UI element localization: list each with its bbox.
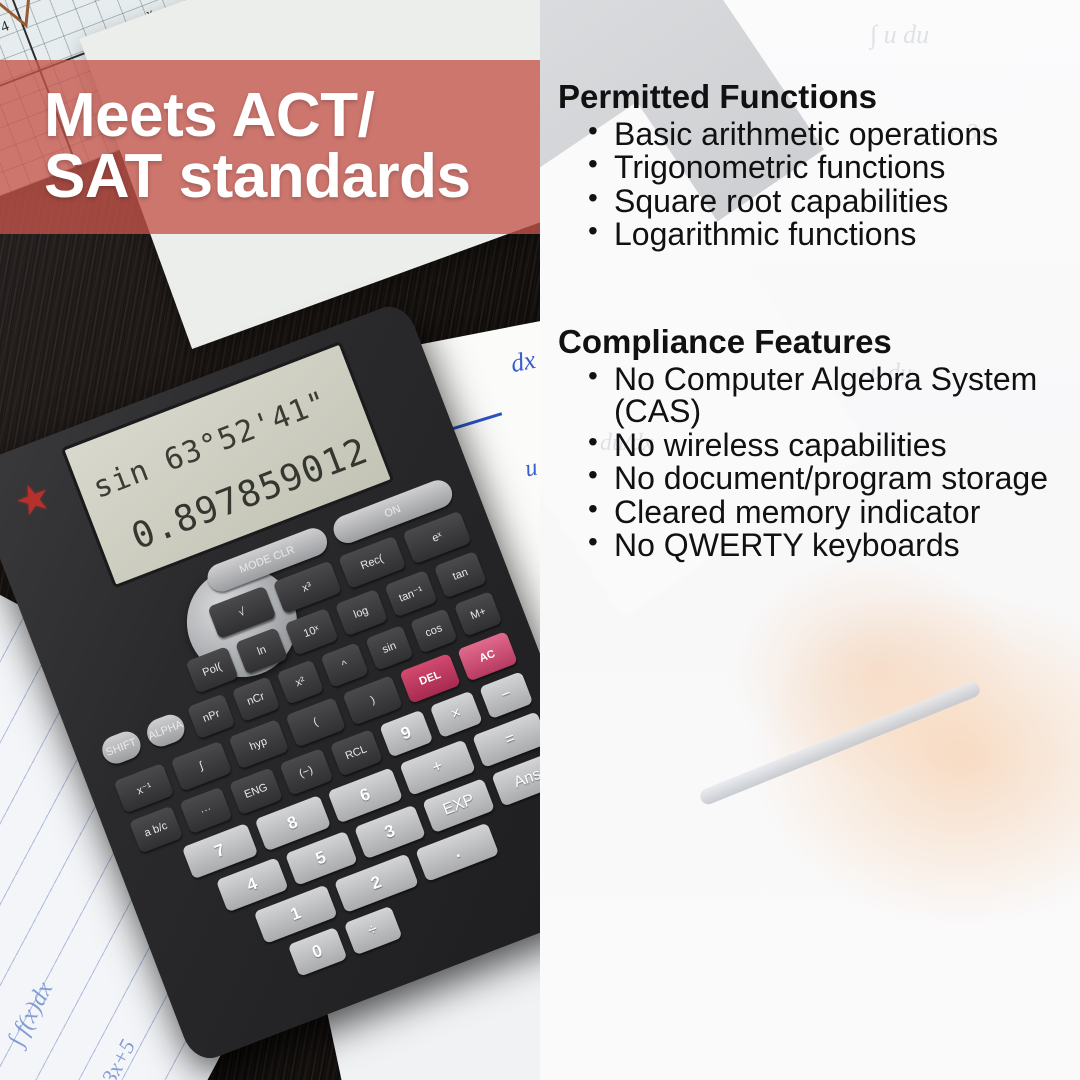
hyp-key[interactable]: hyp (228, 719, 289, 769)
tan-inv-key[interactable]: tan⁻¹ (384, 570, 437, 618)
pol-key[interactable]: Pol( (185, 646, 238, 694)
list-item: Trigonometric functions (614, 151, 1064, 183)
sin-key[interactable]: sin (365, 625, 413, 671)
headline-text: Meets ACT/ SAT standards (0, 86, 470, 208)
star-logo-icon: ★ (5, 473, 62, 530)
log-key[interactable]: log (334, 589, 387, 637)
eng-key[interactable]: ENG (229, 767, 283, 815)
shift-key[interactable]: SHIFT (98, 728, 144, 768)
list-item: Basic arithmetic operations (614, 118, 1064, 150)
permitted-functions-list: Basic arithmetic operations Trigonometri… (558, 118, 1064, 251)
list-item: Cleared memory indicator (614, 496, 1064, 528)
fraction-key[interactable]: a b/c (129, 806, 183, 854)
cos-key[interactable]: cos (410, 608, 458, 654)
dms-key[interactable]: ··· (179, 787, 233, 835)
list-item: No Computer Algebra System (CAS) (614, 363, 1064, 428)
ln-key[interactable]: ln (235, 627, 288, 675)
npr-key[interactable]: nPr (187, 693, 235, 739)
ncr-key[interactable]: nCr (232, 676, 280, 722)
list-item: Square root capabilities (614, 185, 1064, 217)
ten-power-key[interactable]: 10ˣ (285, 608, 338, 656)
minus-key[interactable]: − (479, 671, 533, 719)
calculator-photo-panel: 8 6 4 -4 x Piecewise functions Less. 1-3… (0, 0, 540, 1080)
list-item: No QWERTY keyboards (614, 529, 1064, 561)
section-permitted-functions: Permitted Functions Basic arithmetic ope… (558, 78, 1064, 251)
section-compliance-features: Compliance Features No Computer Algebra … (558, 323, 1064, 562)
left-paren-key[interactable]: ( (285, 697, 346, 747)
x-inverse-key[interactable]: x⁻¹ (114, 763, 175, 813)
rcl-key[interactable]: RCL (329, 729, 383, 777)
right-paren-key[interactable]: ) (342, 675, 403, 725)
infographic-page: 8 6 4 -4 x Piecewise functions Less. 1-3… (0, 0, 1080, 1080)
list-item: Logarithmic functions (614, 218, 1064, 250)
handwriting-substitution-u: u = x - (523, 444, 540, 483)
digit-9-key[interactable]: 9 (379, 710, 433, 758)
delete-key[interactable]: DEL (400, 653, 461, 703)
list-item: No document/program storage (614, 462, 1064, 494)
tan-key[interactable]: tan (434, 551, 487, 599)
x-squared-key[interactable]: x² (276, 659, 324, 705)
negative-key[interactable]: (−) (279, 748, 333, 796)
panel-content: Permitted Functions Basic arithmetic ope… (540, 0, 1080, 562)
digit-0-key[interactable]: 0 (288, 927, 347, 977)
all-clear-key[interactable]: AC (457, 631, 518, 681)
integral-key[interactable]: ∫ (171, 741, 232, 791)
features-text-panel: ∫ u du x² + 3x du/dx u du Permitted Func… (540, 0, 1080, 1080)
memory-plus-key[interactable]: M+ (454, 591, 502, 637)
multiply-key[interactable]: × (429, 690, 483, 738)
section-title-compliance: Compliance Features (558, 323, 1064, 361)
section-title-permitted: Permitted Functions (558, 78, 1064, 116)
handwriting-dx: dx (508, 345, 538, 379)
section-spacer (558, 261, 1064, 323)
divide-key[interactable]: ÷ (343, 906, 402, 956)
power-key[interactable]: ^ (321, 642, 369, 688)
alpha-key[interactable]: ALPHA (143, 711, 189, 751)
list-item: No wireless capabilities (614, 429, 1064, 461)
compliance-features-list: No Computer Algebra System (CAS) No wire… (558, 363, 1064, 562)
headline-banner: Meets ACT/ SAT standards (0, 60, 540, 234)
